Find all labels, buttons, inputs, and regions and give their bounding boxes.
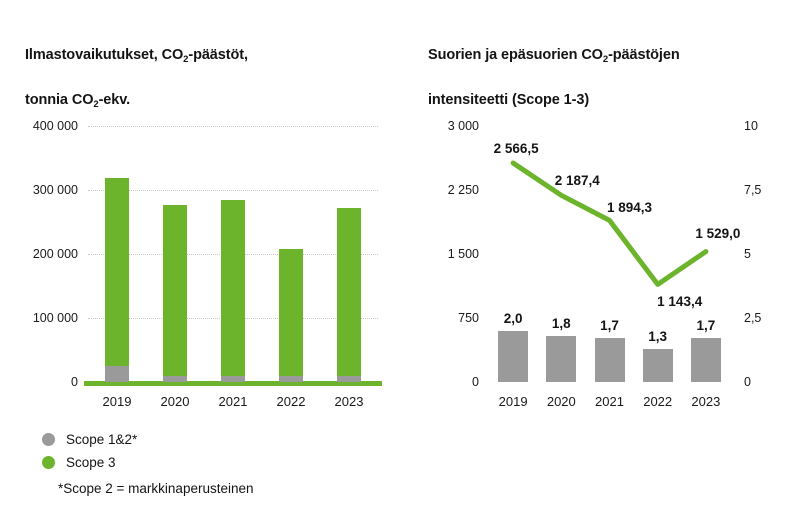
left-chart-title-text-1: Ilmastovaikutukset, CO [25, 47, 183, 63]
scope12-swatch-icon [42, 433, 55, 446]
scope3-swatch-icon [42, 456, 55, 469]
intensity-line-label-2022: 1 143,4 [657, 294, 702, 309]
y-tick-label-left-300000: 300 000 [0, 183, 78, 197]
y-tick-label-left-100000: 100 000 [0, 311, 78, 325]
x-tick-label-left-2019: 2019 [103, 394, 132, 409]
intensity-line-label-2019: 2 566,5 [494, 141, 539, 156]
right-chart-title-text-2: intensiteetti (Scope 1-3) [428, 92, 589, 108]
intensity-line-series [489, 126, 730, 382]
stacked-bar-scope3-2023 [337, 208, 361, 376]
legend-item-scope3[interactable]: Scope 3 [42, 451, 137, 474]
right-chart-title-text-1-end: -päästöjen [608, 47, 680, 63]
y-tick-label-right-left-1500: 1 500 [400, 247, 479, 261]
stacked-bar-scope3-2020 [163, 205, 187, 376]
stacked-bar-scope12-2023 [337, 376, 361, 382]
y-tick-label-right-secondary-0: 0 [744, 375, 794, 389]
x-tick-label-right-2019: 2019 [499, 394, 528, 409]
stacked-bar-scope12-2022 [279, 376, 303, 382]
stacked-bar-scope3-2021 [221, 200, 245, 376]
y-tick-label-right-secondary-2-5: 2,5 [744, 311, 794, 325]
legend-label-scope3: Scope 3 [66, 455, 116, 470]
right-chart-title-text-1: Suorien ja epäsuorien CO [428, 47, 603, 63]
left-chart-title-sub-1: 2 [183, 54, 188, 65]
y-tick-label-right-left-3000: 3 000 [400, 119, 479, 133]
y-tick-label-left-200000: 200 000 [0, 247, 78, 261]
left-chart-title-sub-2: 2 [93, 99, 98, 110]
right-chart-title-sub-1: 2 [603, 54, 608, 65]
stacked-bar-2021[interactable] [221, 126, 245, 382]
stacked-bar-scope3-2019 [105, 178, 129, 366]
y-tick-label-right-secondary-7-5: 7,5 [744, 183, 794, 197]
intensity-line-path [513, 163, 706, 284]
left-chart-title: Ilmastovaikutukset, CO2-päästöt, tonnia … [25, 22, 365, 112]
x-tick-label-right-2020: 2020 [547, 394, 576, 409]
x-tick-label-right-2021: 2021 [595, 394, 624, 409]
intensity-line-label-2021: 1 894,3 [607, 200, 652, 215]
stacked-bar-scope12-2020 [163, 376, 187, 382]
x-tick-label-right-2022: 2022 [643, 394, 672, 409]
left-chart-title-text-2: tonnia CO [25, 92, 93, 108]
y-tick-label-right-left-750: 750 [400, 311, 479, 325]
stacked-bar-2022[interactable] [279, 126, 303, 382]
y-tick-label-right-secondary-10: 10 [744, 119, 794, 133]
y-tick-label-right-secondary-5: 5 [744, 247, 794, 261]
x-tick-label-left-2021: 2021 [219, 394, 248, 409]
legend-item-scope12[interactable]: Scope 1&2* [42, 428, 137, 451]
x-tick-label-left-2020: 2020 [161, 394, 190, 409]
stacked-bar-scope12-2019 [105, 366, 129, 382]
intensity-line-label-2023: 1 529,0 [695, 226, 740, 241]
left-chart-legend: Scope 1&2* Scope 3 [42, 428, 137, 474]
x-tick-label-right-2023: 2023 [691, 394, 720, 409]
left-chart-footnote: *Scope 2 = markkinaperusteinen [58, 481, 254, 496]
stacked-bar-2023[interactable] [337, 126, 361, 382]
x-tick-label-left-2023: 2023 [335, 394, 364, 409]
y-tick-label-right-left-0: 0 [400, 375, 479, 389]
stacked-bar-2019[interactable] [105, 126, 129, 382]
left-chart-title-text-2-end: -ekv. [99, 92, 130, 108]
intensity-line-label-2020: 2 187,4 [555, 173, 600, 188]
y-tick-label-right-left-2250: 2 250 [400, 183, 479, 197]
right-chart-title: Suorien ja epäsuorien CO2-päästöjen inte… [428, 22, 778, 112]
stacked-bar-scope12-2021 [221, 376, 245, 382]
y-tick-label-left-400000: 400 000 [0, 119, 78, 133]
left-chart-title-text-1-end: -päästöt, [188, 47, 248, 63]
stacked-bar-2020[interactable] [163, 126, 187, 382]
y-tick-label-left-0: 0 [0, 375, 78, 389]
legend-label-scope12: Scope 1&2* [66, 432, 137, 447]
stacked-bar-scope3-2022 [279, 249, 303, 376]
x-tick-label-left-2022: 2022 [277, 394, 306, 409]
